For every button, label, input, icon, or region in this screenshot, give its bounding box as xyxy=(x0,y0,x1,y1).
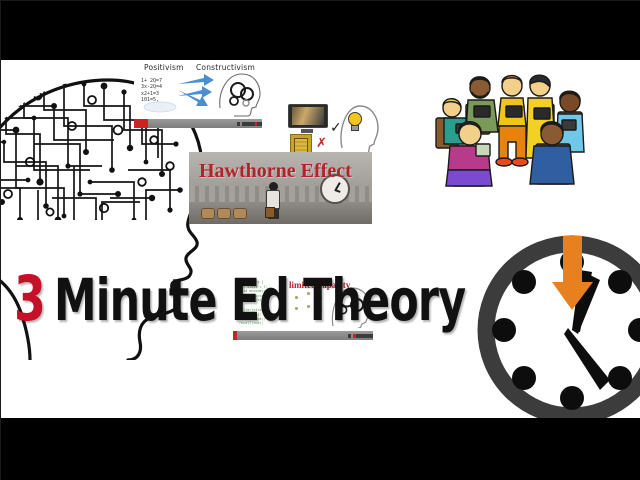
settings-icon[interactable] xyxy=(348,334,351,338)
letterbox-bottom xyxy=(0,418,640,480)
video-thumbnail-dual-coding[interactable]: ✓ ✗ xyxy=(278,96,380,154)
video-thumbnail-positivism-constructivism[interactable]: Positivism Constructivism 1+ 2Q=73x-2Q=4… xyxy=(134,60,262,128)
group-discussion-clipart xyxy=(422,60,594,188)
progress-played[interactable] xyxy=(134,119,148,128)
thumbnail-stage: Positivism Constructivism 1+ 2Q=73x-2Q=4… xyxy=(0,0,640,480)
thumbnail-screen: Positivism Constructivism 1+ 2Q=73x-2Q=4… xyxy=(134,60,262,119)
barrel-icon xyxy=(201,208,215,219)
hawthorne-effect-title: Hawthorne Effect xyxy=(199,160,352,183)
video-player-control-bar[interactable] xyxy=(134,119,262,128)
television-icon xyxy=(288,104,326,130)
worker-figure xyxy=(263,182,283,218)
theater-icon[interactable] xyxy=(363,334,366,338)
thumbnail-screen: ✓ ✗ xyxy=(278,96,380,154)
thumbnail-screen: Hawthorne Effect xyxy=(189,152,372,224)
positivism-arrows xyxy=(134,60,262,119)
theater-icon[interactable] xyxy=(252,122,255,126)
cross-mark-icon: ✗ xyxy=(316,136,327,151)
captions-icon[interactable] xyxy=(242,122,245,126)
quality-icon[interactable] xyxy=(247,122,250,126)
fullscreen-icon[interactable] xyxy=(368,334,371,338)
page-title: 3Minute Ed Theory xyxy=(14,268,555,330)
settings-icon[interactable] xyxy=(237,122,240,126)
title-words: Minute Ed Theory xyxy=(54,271,465,329)
barrel-icon xyxy=(233,208,247,219)
barrel-icon xyxy=(217,208,231,219)
video-thumbnail-hawthorne-effect[interactable]: Hawthorne Effect xyxy=(189,152,372,224)
thumbnail-canvas: Positivism Constructivism 1+ 2Q=73x-2Q=4… xyxy=(0,60,640,418)
player-controls-right[interactable] xyxy=(348,334,371,338)
record-icon[interactable] xyxy=(353,334,356,338)
fullscreen-icon[interactable] xyxy=(257,122,260,126)
player-controls-right[interactable] xyxy=(237,122,260,126)
title-number: 3 xyxy=(14,268,45,330)
lightbulb-icon xyxy=(348,112,361,128)
book-icon xyxy=(290,134,312,154)
letterbox-top xyxy=(0,0,640,60)
captions-icon[interactable] xyxy=(358,334,361,338)
